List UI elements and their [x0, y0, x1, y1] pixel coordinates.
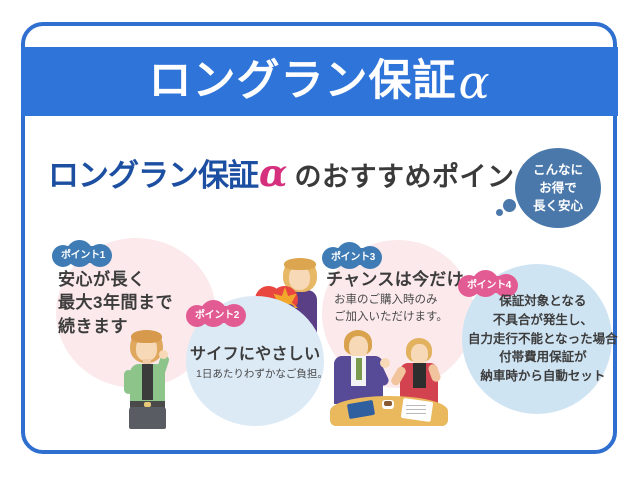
point-3-heading: チャンスは今だけ: [326, 268, 464, 291]
illustration-couple-at-table: [318, 330, 458, 428]
speech-bubble-tail: [503, 199, 516, 212]
subtitle-brand: ロングラン保証: [48, 158, 258, 193]
speech-bubble-tail-small: [496, 209, 503, 216]
page-title: ロングラン保証α: [21, 47, 618, 116]
bubble-line-3: 長く安心: [533, 197, 583, 215]
point-2-badge-label: ポイント2: [186, 300, 248, 327]
point-1-heading: 安心が長く 最大3年間まで 続きます: [58, 268, 173, 338]
illustration-woman-green: [118, 330, 176, 428]
subtitle: ロングラン保証αのおすすめポイント: [48, 155, 542, 192]
bubble-line-2: お得で: [539, 179, 577, 197]
subtitle-tail: のおすすめポイント: [290, 162, 542, 192]
header-title-alpha: α: [456, 59, 490, 105]
point-1-badge-label: ポイント1: [52, 240, 114, 267]
speech-bubble: こんなに お得で 長く安心: [515, 148, 601, 228]
point-2-badge: ポイント2: [186, 300, 248, 327]
point-4-heading: 保証対象となる 不具合が発生し、 自力走行不能となった場合 付帯費用保証が 納車…: [468, 292, 618, 386]
point-3-badge-label: ポイント3: [322, 242, 384, 269]
header-band: ロングラン保証α: [21, 47, 618, 116]
bubble-line-1: こんなに: [533, 161, 583, 179]
subtitle-brand-alpha: α: [258, 151, 290, 195]
point-1-badge: ポイント1: [52, 240, 114, 267]
poster-root: ロングラン保証α ロングラン保証αのおすすめポイント こんなに お得で 長く安心…: [0, 0, 640, 480]
point-3-subtext: お車のご購入時のみ ご加入いただけます。: [334, 292, 448, 325]
header-title-main: ロングラン保証: [148, 60, 456, 103]
point-2-subtext: 1日あたりわずかなご負担。: [196, 367, 328, 382]
point-3-badge: ポイント3: [322, 242, 384, 269]
point-2-heading: サイフにやさしい: [190, 344, 320, 366]
